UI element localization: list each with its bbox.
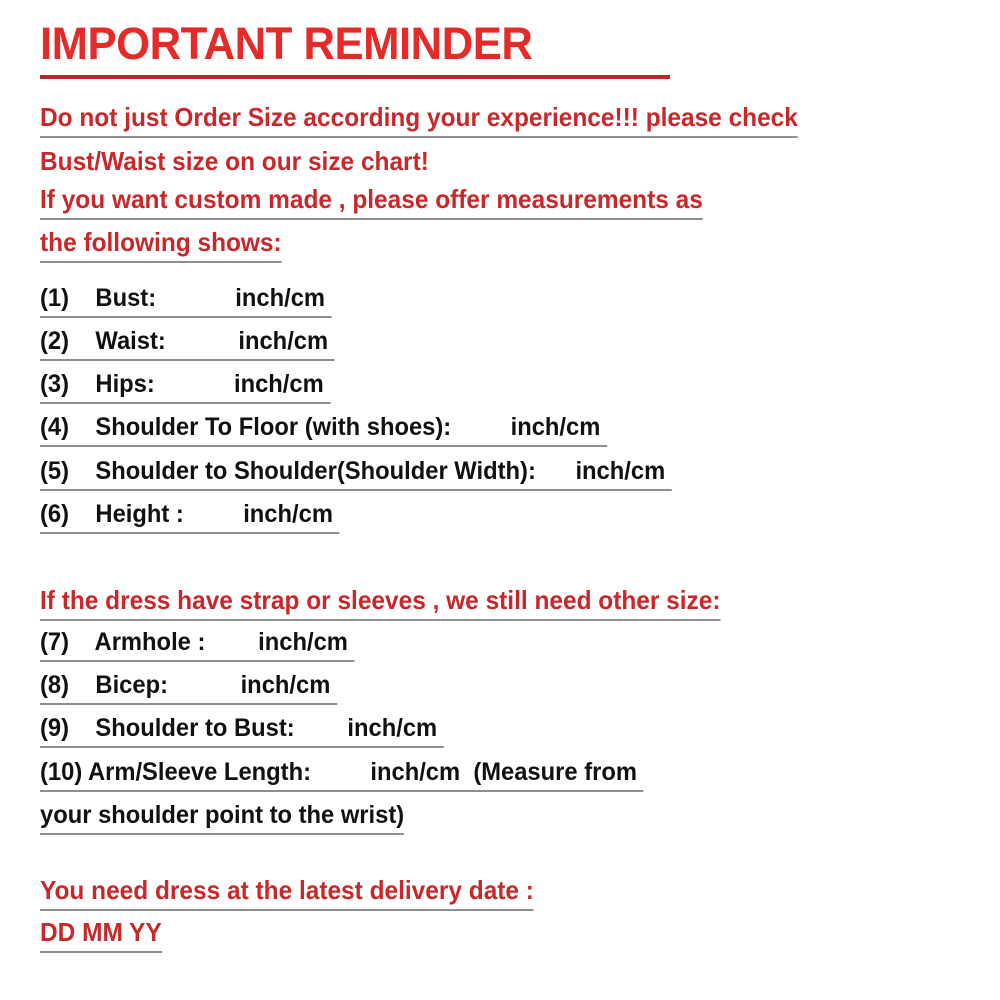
measurement-item-shoulder-to-floor: (4) Shoulder To Floor (with shoes): inch… [40, 412, 607, 447]
measurement-item-arm-sleeve-length-continued: your shoulder point to the wrist) [40, 800, 404, 835]
measurement-item-hips: (3) Hips: inch/cm [40, 369, 330, 404]
intro-line-4: the following shows: [40, 226, 282, 263]
page-title: IMPORTANT REMINDER [40, 18, 651, 70]
measurement-item-armhole: (7) Armhole : inch/cm [40, 627, 355, 662]
strap-sleeves-heading: If the dress have strap or sleeves , we … [40, 584, 721, 621]
intro-line-2: Bust/Waist size on our size chart! [40, 145, 429, 177]
measurement-item-bicep: (8) Bicep: inch/cm [40, 670, 337, 705]
measurement-item-shoulder-to-shoulder: (5) Shoulder to Shoulder(Shoulder Width)… [40, 456, 672, 491]
delivery-date-placeholder: DD MM YY [40, 916, 162, 953]
intro-line-1: Do not just Order Size according your ex… [40, 101, 798, 138]
intro-line-3: If you want custom made , please offer m… [40, 183, 703, 220]
measurement-item-arm-sleeve-length: (10) Arm/Sleeve Length: inch/cm (Measure… [40, 757, 644, 792]
measurement-item-height: (6) Height : inch/cm [40, 499, 340, 534]
measurement-item-waist: (2) Waist: inch/cm [40, 326, 335, 361]
measurement-item-shoulder-to-bust: (9) Shoulder to Bust: inch/cm [40, 713, 444, 748]
reminder-page: IMPORTANT REMINDER Do not just Order Siz… [0, 0, 1000, 1000]
title-underline-rule [40, 75, 670, 79]
title-block: IMPORTANT REMINDER [40, 18, 670, 79]
delivery-date-heading: You need dress at the latest delivery da… [40, 874, 534, 911]
measurement-item-bust: (1) Bust: inch/cm [40, 283, 332, 318]
